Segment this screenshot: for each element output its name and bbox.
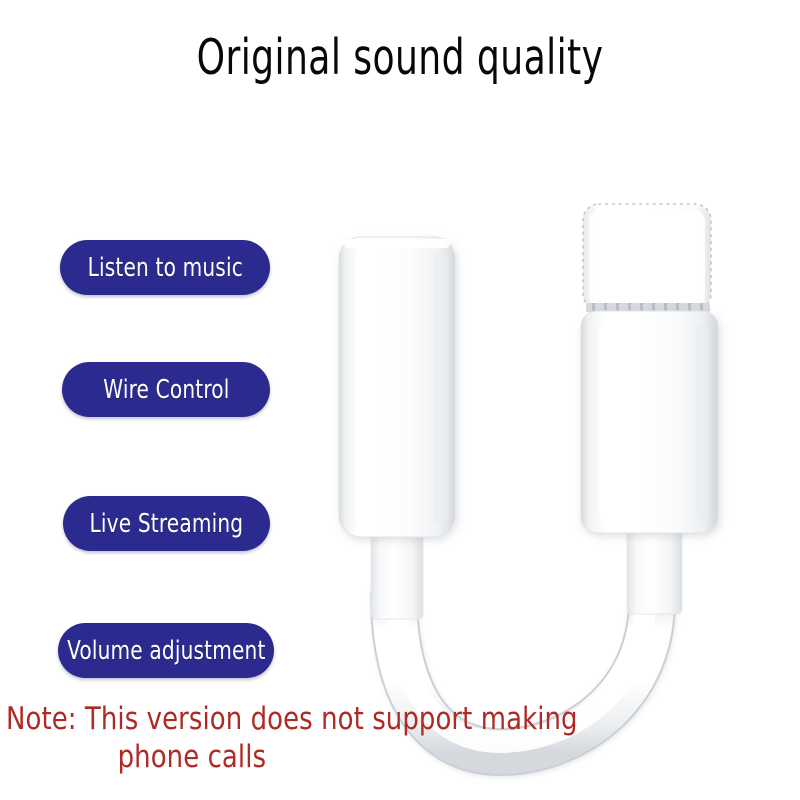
disclaimer-note-line-2: phone calls [6, 738, 564, 776]
lightning-connector-tab [583, 204, 711, 310]
headphone-jack-barrel [339, 237, 455, 537]
lightning-connector-body [581, 311, 718, 533]
product-promo-image: Original sound quality [0, 0, 800, 800]
product-illustration [0, 0, 800, 800]
strain-relief-left [371, 527, 423, 619]
disclaimer-note-line-1: Note: This version does not support maki… [6, 700, 564, 738]
strain-relief-right [627, 529, 682, 614]
disclaimer-note: Note: This version does not support maki… [6, 700, 606, 776]
